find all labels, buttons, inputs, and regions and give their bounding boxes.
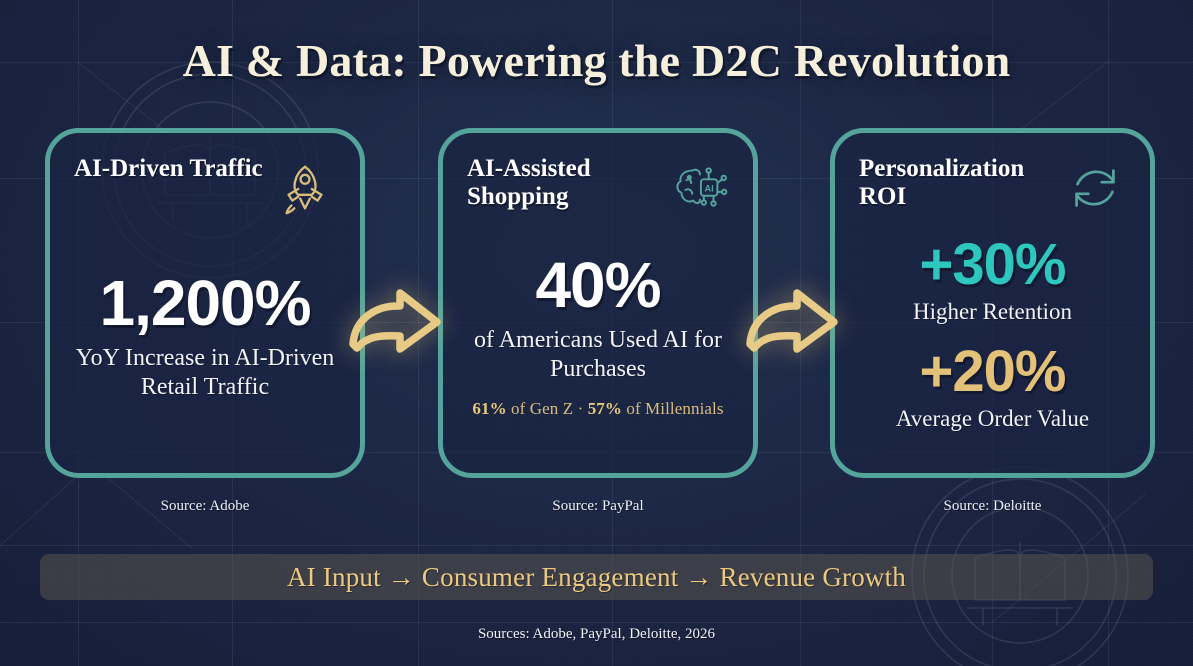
infographic-canvas: AI & Data: Powering the D2C Revolution A…: [0, 0, 1193, 666]
sub-stat-value-1: 61%: [472, 399, 506, 418]
stat-caption: Average Order Value: [896, 405, 1089, 432]
arrow-card1-to-card2: [345, 282, 445, 362]
primary-stat: +30%: [913, 236, 1072, 294]
sub-stat-label-2: of Millennials: [622, 399, 724, 418]
stat-caption: of Americans Used AI for Purchases: [467, 326, 729, 383]
secondary-stat: +20%: [896, 343, 1089, 401]
card-header: AI-Assisted Shopping AI: [467, 155, 729, 223]
page-title: AI & Data: Powering the D2C Revolution: [0, 34, 1193, 87]
refresh-cycle-icon: [1064, 157, 1126, 219]
stat-caption: YoY Increase in AI-Driven Retail Traffic: [74, 344, 336, 401]
card-title: AI-Assisted Shopping: [467, 155, 657, 211]
stat-caption: Higher Retention: [913, 298, 1072, 325]
arrow-card2-to-card3: [742, 282, 842, 362]
sub-stat-label-1: of Gen Z ·: [507, 399, 588, 418]
sources-footnote: Sources: Adobe, PayPal, Deloitte, 2026: [0, 626, 1193, 643]
sub-stat-value-2: 57%: [588, 399, 622, 418]
card-source-adobe: Source: Adobe: [45, 498, 365, 515]
sub-stat-line: 61% of Gen Z · 57% of Millennials: [472, 399, 723, 419]
stat-cards-row: AI-Driven Traffic 1,200% YoY Increase in…: [0, 128, 1193, 488]
card-header: AI-Driven Traffic: [74, 155, 336, 223]
primary-stat: 1,200%: [99, 271, 310, 335]
card-title: Personalization ROI: [859, 155, 1054, 211]
card-source-deloitte: Source: Deloitte: [830, 498, 1155, 515]
card-title: AI-Driven Traffic: [74, 155, 263, 183]
card-body: 1,200% YoY Increase in AI-Driven Retail …: [74, 217, 336, 455]
flow-summary-bar: AI Input → Consumer Engagement → Revenue…: [40, 554, 1153, 600]
ai-brain-chip-icon: AI: [667, 157, 729, 219]
card-body: +30% Higher Retention +20% Average Order…: [859, 217, 1126, 455]
roi-metric-order-value: +20% Average Order Value: [896, 343, 1089, 432]
flow-summary-text: AI Input → Consumer Engagement → Revenue…: [287, 562, 906, 593]
primary-stat: 40%: [535, 253, 660, 317]
stat-card-personalization-roi[interactable]: Personalization ROI +30% Higher Retentio…: [830, 128, 1155, 478]
stat-card-ai-assisted-shopping[interactable]: AI-Assisted Shopping AI: [438, 128, 758, 478]
svg-text:AI: AI: [705, 183, 714, 193]
roi-metric-retention: +30% Higher Retention: [913, 236, 1072, 325]
card-header: Personalization ROI: [859, 155, 1126, 223]
stat-card-ai-driven-traffic[interactable]: AI-Driven Traffic 1,200% YoY Increase in…: [45, 128, 365, 478]
rocket-icon: [274, 157, 336, 219]
card-body: 40% of Americans Used AI for Purchases 6…: [467, 217, 729, 455]
card-source-paypal: Source: PayPal: [438, 498, 758, 515]
